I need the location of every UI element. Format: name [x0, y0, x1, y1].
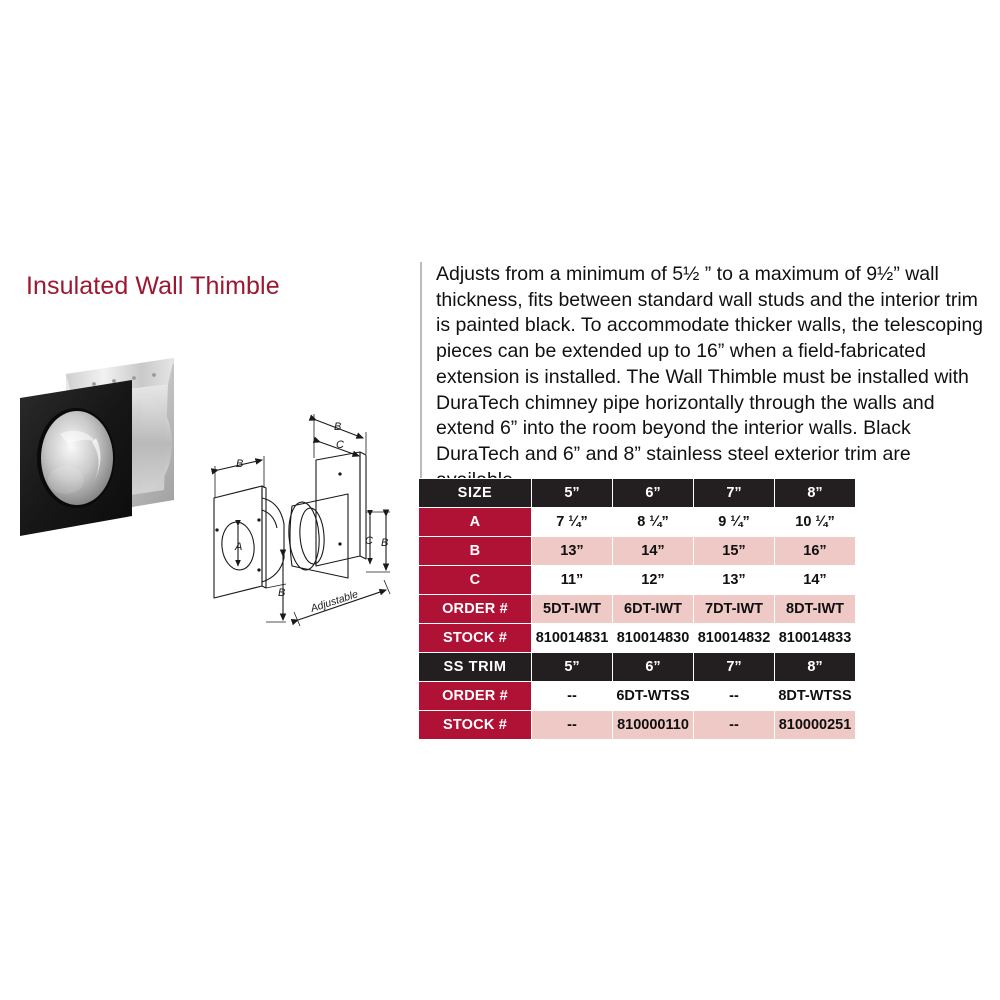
table-cell: 8”	[775, 479, 855, 507]
table-cell: 810014832	[694, 624, 774, 652]
table-cell: 810000110	[613, 711, 693, 739]
table-cell: 7DT-IWT	[694, 595, 774, 623]
technical-diagram-drawing: A B B B C C B	[200, 398, 415, 633]
table-row: ORDER #5DT-IWT6DT-IWT7DT-IWT8DT-IWT	[419, 595, 855, 623]
table-row-label: SIZE	[419, 479, 531, 507]
table-row: B13”14”15”16”	[419, 537, 855, 565]
table-row: A7 ¼”8 ¼”9 ¼”10 ¼”	[419, 508, 855, 536]
table-cell: 810014833	[775, 624, 855, 652]
table-cell: 7”	[694, 479, 774, 507]
diagram-label-c-right: C	[365, 535, 373, 547]
product-photo-image	[8, 340, 198, 540]
table-cell: 8”	[775, 653, 855, 681]
diagram-label-a: A	[234, 541, 242, 553]
diagram-label-b-bottom-left: B	[278, 587, 285, 599]
technical-diagram: A B B B C C B	[200, 398, 415, 633]
diagram-label-b-top-right: B	[334, 421, 341, 433]
diagram-label-c-top: C	[336, 439, 344, 451]
table-cell: 5”	[532, 479, 612, 507]
diagram-label-adjustable: Adjustable	[308, 588, 359, 615]
description-text: Adjusts from a minimum of 5½ ” to a maxi…	[436, 262, 990, 493]
table-row-label: B	[419, 537, 531, 565]
table-cell: 7 ¼”	[532, 508, 612, 536]
table-cell: 7”	[694, 653, 774, 681]
page-title: Insulated Wall Thimble	[26, 272, 280, 301]
table-row-label: ORDER #	[419, 682, 531, 710]
table-row-label: STOCK #	[419, 711, 531, 739]
diagram-label-b-right: B	[381, 537, 388, 549]
table-cell: 5DT-IWT	[532, 595, 612, 623]
table-cell: 810000251	[775, 711, 855, 739]
table-row-label: A	[419, 508, 531, 536]
table-row: ORDER #--6DT-WTSS--8DT-WTSS	[419, 682, 855, 710]
table-cell: 14”	[775, 566, 855, 594]
table-row: STOCK #810014831810014830810014832810014…	[419, 624, 855, 652]
table-cell: 6”	[613, 479, 693, 507]
table-cell: --	[532, 682, 612, 710]
table-cell: 810014831	[532, 624, 612, 652]
table-row: C11”12”13”14”	[419, 566, 855, 594]
table-row-label: SS TRIM	[419, 653, 531, 681]
table-row: STOCK #--810000110--810000251	[419, 711, 855, 739]
table-row: SIZE5”6”7”8”	[419, 479, 855, 507]
diagram-label-b-top-left: B	[236, 458, 243, 470]
table-cell: 13”	[532, 537, 612, 565]
table-cell: 11”	[532, 566, 612, 594]
table-row-label: STOCK #	[419, 624, 531, 652]
table-cell: --	[694, 682, 774, 710]
table-cell: --	[694, 711, 774, 739]
table-cell: 12”	[613, 566, 693, 594]
description-block: Adjusts from a minimum of 5½ ” to a maxi…	[420, 262, 990, 493]
table-cell: 810014830	[613, 624, 693, 652]
table-row: SS TRIM5”6”7”8”	[419, 653, 855, 681]
specification-table: SIZE5”6”7”8”A7 ¼”8 ¼”9 ¼”10 ¼”B13”14”15”…	[418, 478, 856, 740]
table-cell: 14”	[613, 537, 693, 565]
specification-table-body: SIZE5”6”7”8”A7 ¼”8 ¼”9 ¼”10 ¼”B13”14”15”…	[419, 479, 855, 739]
product-photo	[8, 340, 198, 540]
table-cell: 8 ¼”	[613, 508, 693, 536]
table-cell: 6”	[613, 653, 693, 681]
table-cell: 8DT-WTSS	[775, 682, 855, 710]
table-cell: 9 ¼”	[694, 508, 774, 536]
table-cell: 15”	[694, 537, 774, 565]
table-row-label: C	[419, 566, 531, 594]
table-cell: 5”	[532, 653, 612, 681]
table-row-label: ORDER #	[419, 595, 531, 623]
table-cell: 10 ¼”	[775, 508, 855, 536]
table-cell: --	[532, 711, 612, 739]
table-cell: 6DT-IWT	[613, 595, 693, 623]
table-cell: 8DT-IWT	[775, 595, 855, 623]
table-cell: 6DT-WTSS	[613, 682, 693, 710]
table-cell: 16”	[775, 537, 855, 565]
table-cell: 13”	[694, 566, 774, 594]
